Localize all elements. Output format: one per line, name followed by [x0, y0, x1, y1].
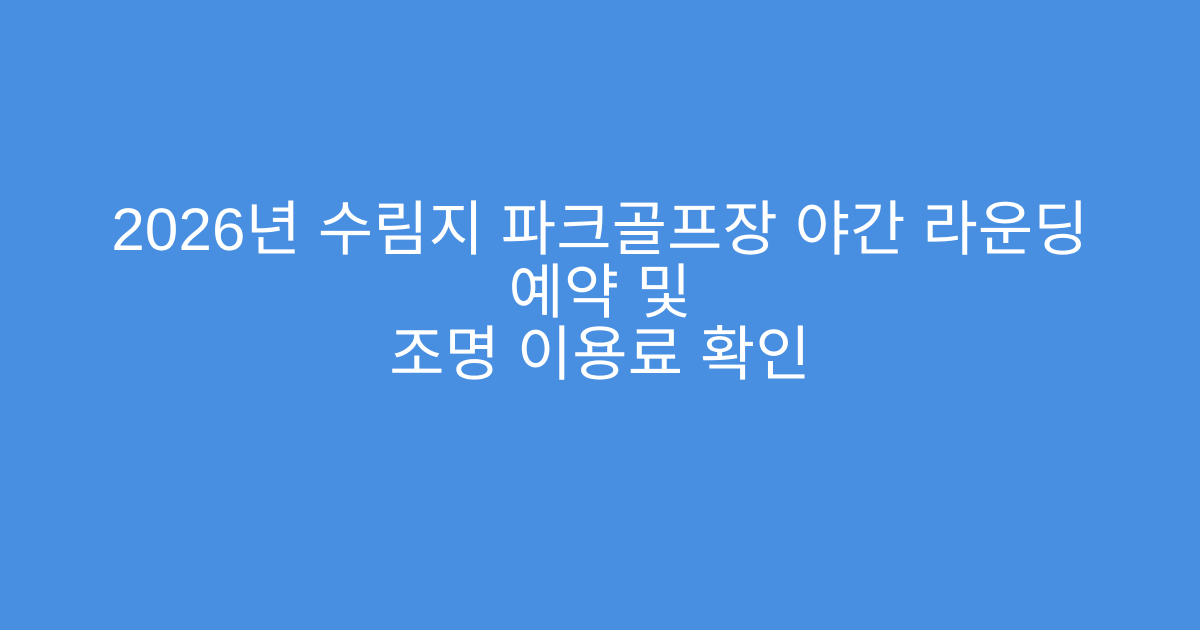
page-title: 2026년 수림지 파크골프장 야간 라운딩 예약 및 조명 이용료 확인: [80, 199, 1120, 386]
og-card: 2026년 수림지 파크골프장 야간 라운딩 예약 및 조명 이용료 확인: [0, 0, 1200, 630]
title-block: 2026년 수림지 파크골프장 야간 라운딩 예약 및 조명 이용료 확인: [80, 199, 1120, 430]
